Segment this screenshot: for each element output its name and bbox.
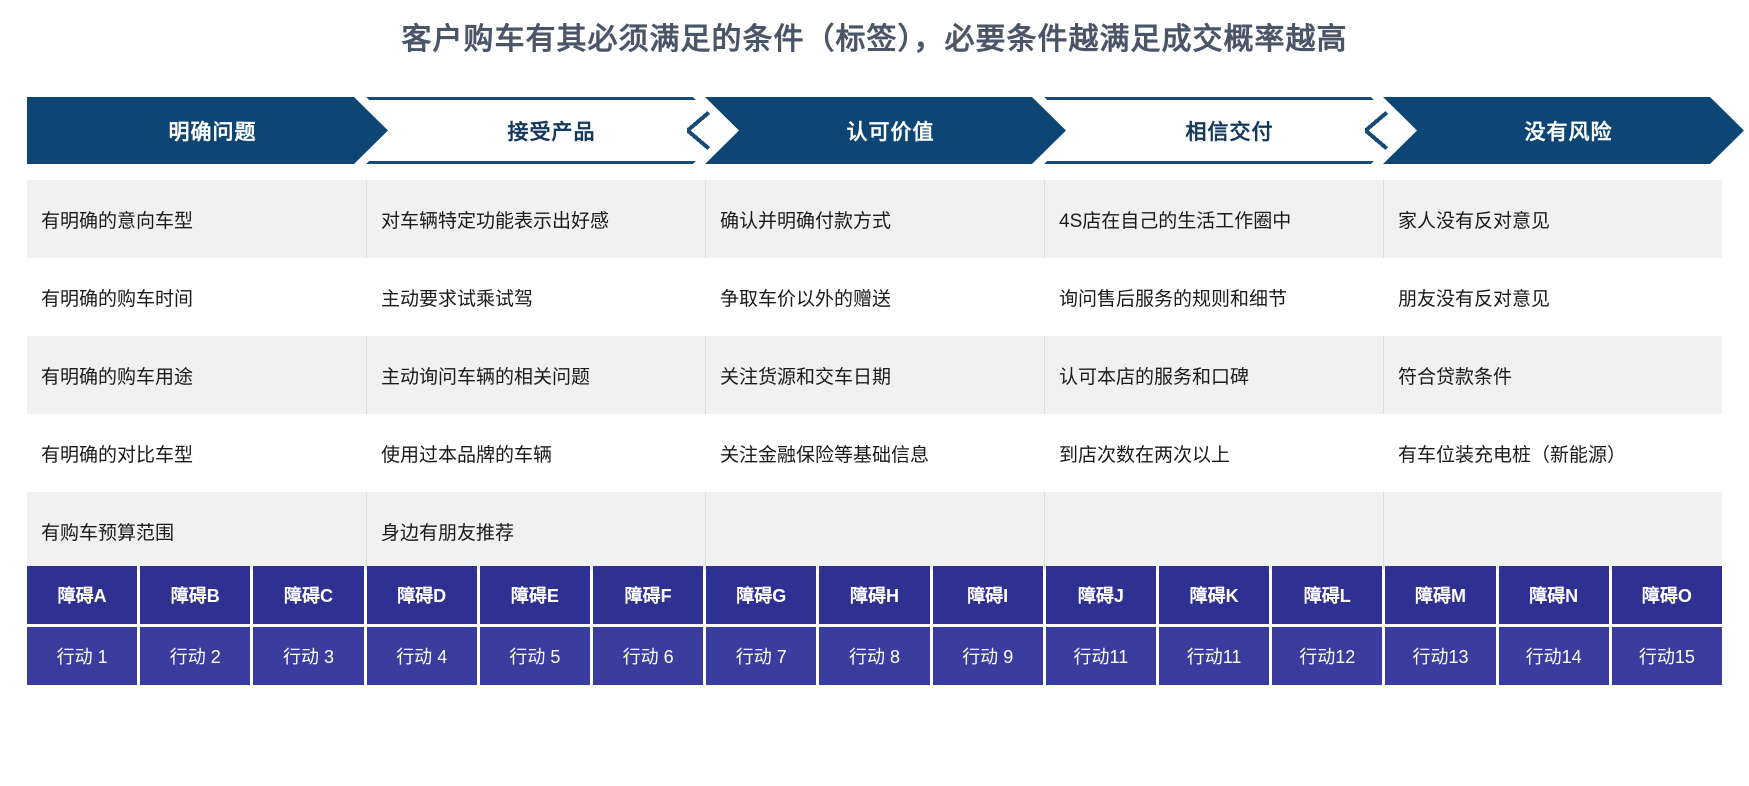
obstacle-cell[interactable]: 障碍G	[706, 566, 816, 624]
condition-cell: 确认并明确付款方式	[705, 180, 1044, 258]
stage-chevron-label: 相信交付	[1176, 116, 1274, 146]
obstacle-row: 障碍A障碍B障碍C障碍D障碍E障碍F障碍G障碍H障碍I障碍J障碍K障碍L障碍M障…	[27, 566, 1722, 624]
obstacle-cell[interactable]: 障碍N	[1499, 566, 1609, 624]
stage-chevron-label: 明确问题	[159, 116, 257, 146]
obstacle-cell[interactable]: 障碍I	[933, 566, 1043, 624]
condition-cell: 主动要求试乘试驾	[366, 258, 705, 336]
obstacle-cell[interactable]: 障碍D	[367, 566, 477, 624]
obstacle-cell[interactable]: 障碍F	[593, 566, 703, 624]
action-cell[interactable]: 行动 9	[933, 627, 1043, 685]
action-cell[interactable]: 行动11	[1159, 627, 1269, 685]
condition-cell	[1383, 492, 1722, 570]
condition-cell: 询问售后服务的规则和细节	[1044, 258, 1383, 336]
stage-chevron-4[interactable]: 相信交付	[1044, 97, 1405, 164]
action-cell[interactable]: 行动 3	[253, 627, 363, 685]
stage-chevron-1[interactable]: 明确问题	[27, 97, 388, 164]
condition-cell: 有明确的意向车型	[27, 180, 366, 258]
stage-chevron-label: 接受产品	[498, 116, 596, 146]
action-cell[interactable]: 行动 8	[819, 627, 929, 685]
condition-cell	[705, 492, 1044, 570]
slide-root: 客户购车有其必须满足的条件（标签），必要条件越满足成交概率越高 明确问题接受产品…	[0, 0, 1749, 786]
condition-cell: 到店次数在两次以上	[1044, 414, 1383, 492]
condition-grid: 有明确的意向车型对车辆特定功能表示出好感确认并明确付款方式4S店在自己的生活工作…	[27, 180, 1722, 570]
obstacle-cell[interactable]: 障碍B	[140, 566, 250, 624]
condition-cell: 朋友没有反对意见	[1383, 258, 1722, 336]
condition-cell: 符合贷款条件	[1383, 336, 1722, 414]
condition-cell: 有车位装充电桩（新能源）	[1383, 414, 1722, 492]
condition-cell: 关注货源和交车日期	[705, 336, 1044, 414]
obstacle-cell[interactable]: 障碍A	[27, 566, 137, 624]
action-row: 行动 1行动 2行动 3行动 4行动 5行动 6行动 7行动 8行动 9行动11…	[27, 627, 1722, 685]
stage-chevron-label: 没有风险	[1515, 116, 1613, 146]
action-cell[interactable]: 行动 4	[367, 627, 477, 685]
obstacle-cell[interactable]: 障碍H	[819, 566, 929, 624]
action-cell[interactable]: 行动13	[1385, 627, 1495, 685]
obstacle-cell[interactable]: 障碍O	[1612, 566, 1722, 624]
condition-cell: 有明确的购车用途	[27, 336, 366, 414]
condition-cell: 身边有朋友推荐	[366, 492, 705, 570]
condition-cell: 有明确的购车时间	[27, 258, 366, 336]
condition-cell: 4S店在自己的生活工作圈中	[1044, 180, 1383, 258]
condition-cell: 争取车价以外的赠送	[705, 258, 1044, 336]
obstacle-cell[interactable]: 障碍J	[1046, 566, 1156, 624]
obstacle-cell[interactable]: 障碍K	[1159, 566, 1269, 624]
action-cell[interactable]: 行动 7	[706, 627, 816, 685]
obstacle-cell[interactable]: 障碍M	[1385, 566, 1495, 624]
condition-cell	[1044, 492, 1383, 570]
condition-cell: 关注金融保险等基础信息	[705, 414, 1044, 492]
condition-cell: 有明确的对比车型	[27, 414, 366, 492]
action-cell[interactable]: 行动14	[1499, 627, 1609, 685]
stage-chevron-band: 明确问题接受产品认可价值相信交付没有风险	[27, 97, 1722, 164]
condition-cell: 对车辆特定功能表示出好感	[366, 180, 705, 258]
action-cell[interactable]: 行动 1	[27, 627, 137, 685]
action-cell[interactable]: 行动12	[1272, 627, 1382, 685]
action-cell[interactable]: 行动11	[1046, 627, 1156, 685]
stage-chevron-3[interactable]: 认可价值	[705, 97, 1066, 164]
condition-cell: 家人没有反对意见	[1383, 180, 1722, 258]
condition-cell: 认可本店的服务和口碑	[1044, 336, 1383, 414]
stage-chevron-2[interactable]: 接受产品	[366, 97, 727, 164]
stage-chevron-5[interactable]: 没有风险	[1383, 97, 1744, 164]
stage-chevron-label: 认可价值	[837, 116, 935, 146]
page-title: 客户购车有其必须满足的条件（标签），必要条件越满足成交概率越高	[0, 14, 1749, 58]
obstacle-cell[interactable]: 障碍C	[253, 566, 363, 624]
obstacle-cell[interactable]: 障碍L	[1272, 566, 1382, 624]
action-cell[interactable]: 行动 5	[480, 627, 590, 685]
condition-cell: 使用过本品牌的车辆	[366, 414, 705, 492]
obstacle-action-section: 障碍A障碍B障碍C障碍D障碍E障碍F障碍G障碍H障碍I障碍J障碍K障碍L障碍M障…	[27, 566, 1722, 685]
condition-cell: 有购车预算范围	[27, 492, 366, 570]
condition-cell: 主动询问车辆的相关问题	[366, 336, 705, 414]
action-cell[interactable]: 行动 6	[593, 627, 703, 685]
obstacle-cell[interactable]: 障碍E	[480, 566, 590, 624]
action-cell[interactable]: 行动15	[1612, 627, 1722, 685]
action-cell[interactable]: 行动 2	[140, 627, 250, 685]
